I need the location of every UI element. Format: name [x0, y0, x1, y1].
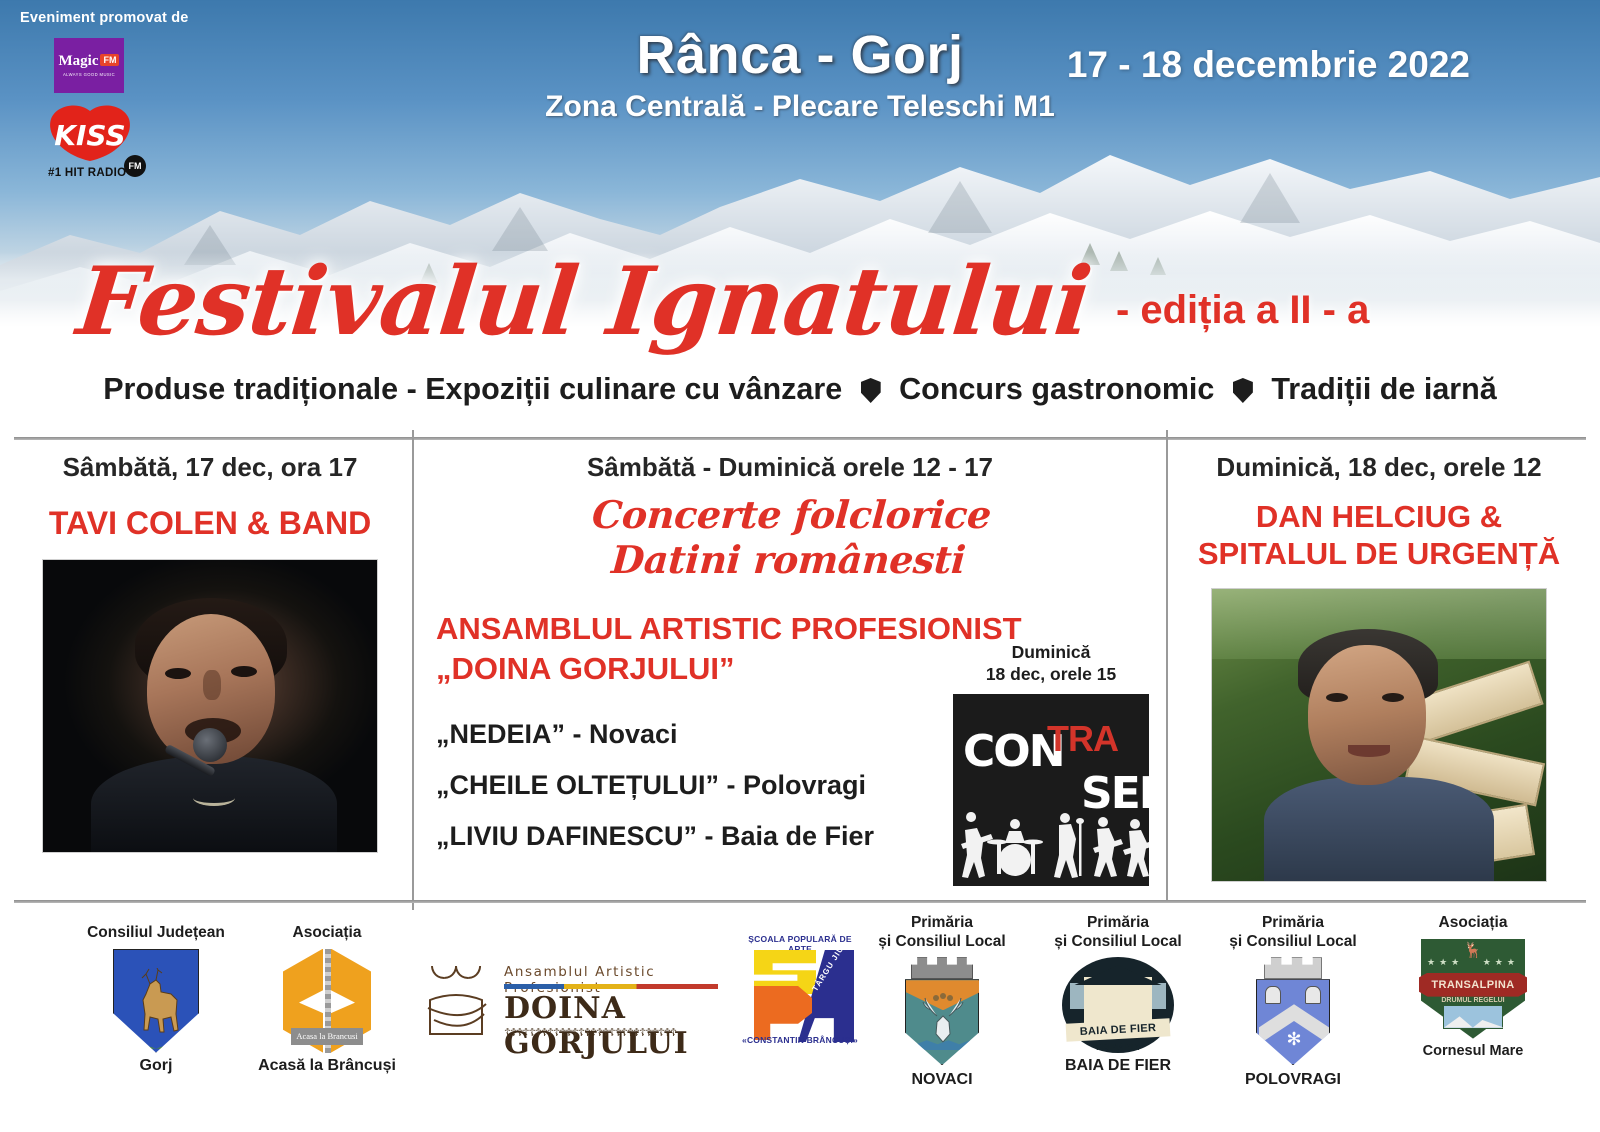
tagline-part-2: Concurs gastronomic	[899, 372, 1214, 406]
scoala-populara-de-arte-logo: ȘCOALA POPULARĂ DE ARTE TÂRGU JIU «CONST…	[740, 934, 860, 1042]
column-right: Duminică, 18 dec, orele 12 DAN HELCIUG &…	[1172, 452, 1586, 882]
sponsor-label-bottom: BAIA DE FIER	[1044, 1057, 1192, 1075]
event-date: 17 - 18 decembrie 2022	[1067, 44, 1470, 86]
place-subtitle: Zona Centrală - Plecare Teleschi M1	[0, 90, 1600, 124]
column-left: Sâmbătă, 17 dec, ora 17 TAVI COLEN & BAN…	[14, 452, 406, 853]
promo-label: Eveniment promovat de	[18, 10, 218, 26]
polovragi-crest: ✻	[1250, 957, 1336, 1067]
transalpina-logo: 🦌 ★★★ ★★★ TRANSALPINA DRUMUL REGELUI	[1421, 939, 1525, 1039]
magic-fm-tagline: ALWAYS GOOD MUSIC	[63, 72, 115, 77]
contrasens-when-line-2: 18 dec, orele 15	[946, 664, 1156, 686]
svg-text:KISS: KISS	[54, 119, 125, 152]
promo-block: Eveniment promovat de MagicFM ALWAYS GOO…	[18, 10, 218, 179]
brancusi-association-logo: Acasa la Brancusi	[281, 949, 373, 1053]
tagline-part-3: Tradiții de iarnă	[1271, 372, 1496, 406]
contrasens-block: Duminică 18 dec, orele 15 CON TRA SENS	[946, 642, 1156, 886]
contrasens-logo-tra: TRA	[1047, 722, 1081, 756]
contrasens-logo: CON TRA SENS	[953, 694, 1149, 886]
novaci-crest	[899, 957, 985, 1067]
magic-fm-suffix: FM	[100, 54, 119, 66]
sponsor-gorj-county: Consiliul Județean Gorj	[56, 924, 256, 1075]
doina-gorjului-logo: Ansamblul Artistic Profesionist DOINA GO…	[420, 958, 720, 1044]
kiss-lips-icon: KISS	[48, 105, 132, 163]
sponsor-label-top-line-2: și Consiliul Local	[1044, 933, 1192, 952]
column-middle: Sâmbătă - Duminică orele 12 - 17 Concert…	[418, 452, 1162, 872]
deer-icon	[130, 968, 186, 1040]
sponsor-label-bottom: NOVACI	[872, 1071, 1012, 1089]
sponsor-label-top: Asociația	[232, 924, 422, 943]
sponsor-novaci: Primăria și Consiliul Local NOVACI	[872, 914, 1012, 1089]
shield-separator-icon	[861, 378, 881, 403]
divider-bottom	[14, 900, 1586, 903]
spa-logo-line-3: «CONSTANTIN BRÂNCUȘI»	[740, 1035, 860, 1045]
sponsor-doina-gorjului: Ansamblul Artistic Profesionist DOINA GO…	[420, 958, 730, 1044]
right-act-line-1: DAN HELCIUG &	[1172, 499, 1586, 536]
sponsor-label-top: Consiliul Județean	[56, 924, 256, 943]
tagline-part-1: Produse tradiționale - Expoziții culinar…	[103, 372, 842, 406]
right-act-line-2: SPITALUL DE URGENȚĂ	[1172, 536, 1586, 573]
festival-edition: - ediția a II - a	[1116, 288, 1369, 333]
right-when: Duminică, 18 dec, orele 12	[1172, 452, 1586, 483]
magic-fm-word: Magic	[59, 53, 99, 69]
tavi-colen-photo	[42, 559, 378, 853]
sponsor-baia-de-fier: Primăria și Consiliul Local BAIA DE FIER…	[1044, 914, 1192, 1075]
left-act-name: TAVI COLEN & BAND	[14, 505, 406, 543]
transalpina-subtitle: DRUMUL REGELUI	[1421, 997, 1525, 1004]
left-when: Sâmbătă, 17 dec, ora 17	[14, 452, 406, 483]
right-act-name: DAN HELCIUG & SPITALUL DE URGENȚĂ	[1172, 499, 1586, 572]
stag-head-icon	[906, 980, 980, 1066]
magic-fm-logo: MagicFM ALWAYS GOOD MUSIC	[54, 38, 124, 93]
divider-top	[14, 437, 1586, 440]
sponsor-scoala-populara-arte: ȘCOALA POPULARĂ DE ARTE TÂRGU JIU «CONST…	[740, 934, 870, 1042]
middle-script-heading: Concerte folclorice Datini românesti	[415, 493, 1165, 583]
stars-icon: ★★★ ★★★	[1421, 957, 1525, 968]
sponsor-label-top-line-1: Primăria	[1044, 914, 1192, 933]
sponsor-cornesul-mare: Asociația 🦌 ★★★ ★★★ TRANSALPINA DRUMUL R…	[1388, 914, 1558, 1059]
sponsor-brancusi-association: Asociația Acasa la Brancusi Acasă la Brâ…	[232, 924, 422, 1075]
middle-when: Sâmbătă - Duminică orele 12 - 17	[418, 452, 1162, 483]
middle-script-line-2: Datini românesti	[415, 538, 1162, 583]
folk-frieze-icon: ☦☦☦☦☦☦☦☦☦☦☦☦☦☦☦☦☦☦☦☦☦☦☦☦☦☦☦☦	[504, 1028, 718, 1040]
dan-helciug-photo	[1211, 588, 1547, 882]
band-silhouettes-icon	[953, 804, 1149, 880]
shield-separator-icon	[1233, 378, 1253, 403]
sponsor-strip: Consiliul Județean Gorj Asociația Acasa …	[0, 906, 1600, 1132]
gorj-county-crest	[56, 949, 256, 1053]
festival-tagline: Produse tradiționale - Expoziții culinar…	[0, 372, 1600, 407]
baia-de-fier-subtitle: PRIMĂRIA	[1062, 1043, 1174, 1052]
sponsor-label-bottom: Gorj	[56, 1057, 256, 1075]
sponsor-label-top-line-1: Primăria	[1218, 914, 1368, 933]
sponsor-label-top-line-1: Primăria	[872, 914, 1012, 933]
sponsor-label-bottom: Acasă la Brâncuși	[232, 1057, 422, 1075]
festival-title-row: Festivalul Ignatului - ediția a II - a	[0, 258, 1600, 347]
edelweiss-icon: ✻	[1285, 1030, 1303, 1048]
kiss-fm-logo: KISS FM #1 HIT RADIO	[48, 105, 144, 179]
embracing-figures-icon	[420, 966, 492, 1036]
sponsor-label-top-line-2: și Consiliul Local	[1218, 933, 1368, 952]
transalpina-ribbon: TRANSALPINA	[1419, 973, 1527, 997]
doina-logo-line-2: DOINA GORJULUI	[504, 991, 720, 1061]
sponsor-label-top-line-2: și Consiliul Local	[872, 933, 1012, 952]
contrasens-when-line-1: Duminică	[946, 642, 1156, 664]
kiss-fm-badge: FM	[124, 155, 146, 177]
sponsor-label-top-line-1: Asociația	[1388, 914, 1558, 933]
sponsor-label-bottom: POLOVRAGI	[1218, 1071, 1368, 1089]
festival-title: Festivalul Ignatului	[73, 258, 1094, 347]
baia-de-fier-logo: BAIA DE FIER PRIMĂRIA	[1062, 957, 1174, 1053]
sponsor-polovragi: Primăria și Consiliul Local ✻ POLOVRAGI	[1218, 914, 1368, 1089]
middle-script-line-1: Concerte folclorice	[418, 493, 1165, 538]
brancusi-logo-caption: Acasa la Brancusi	[291, 1028, 363, 1045]
mountain-scene-icon	[1443, 1005, 1503, 1029]
program-columns: Sâmbătă, 17 dec, ora 17 TAVI COLEN & BAN…	[0, 452, 1600, 892]
sponsor-label-bottom: Cornesul Mare	[1388, 1043, 1558, 1059]
